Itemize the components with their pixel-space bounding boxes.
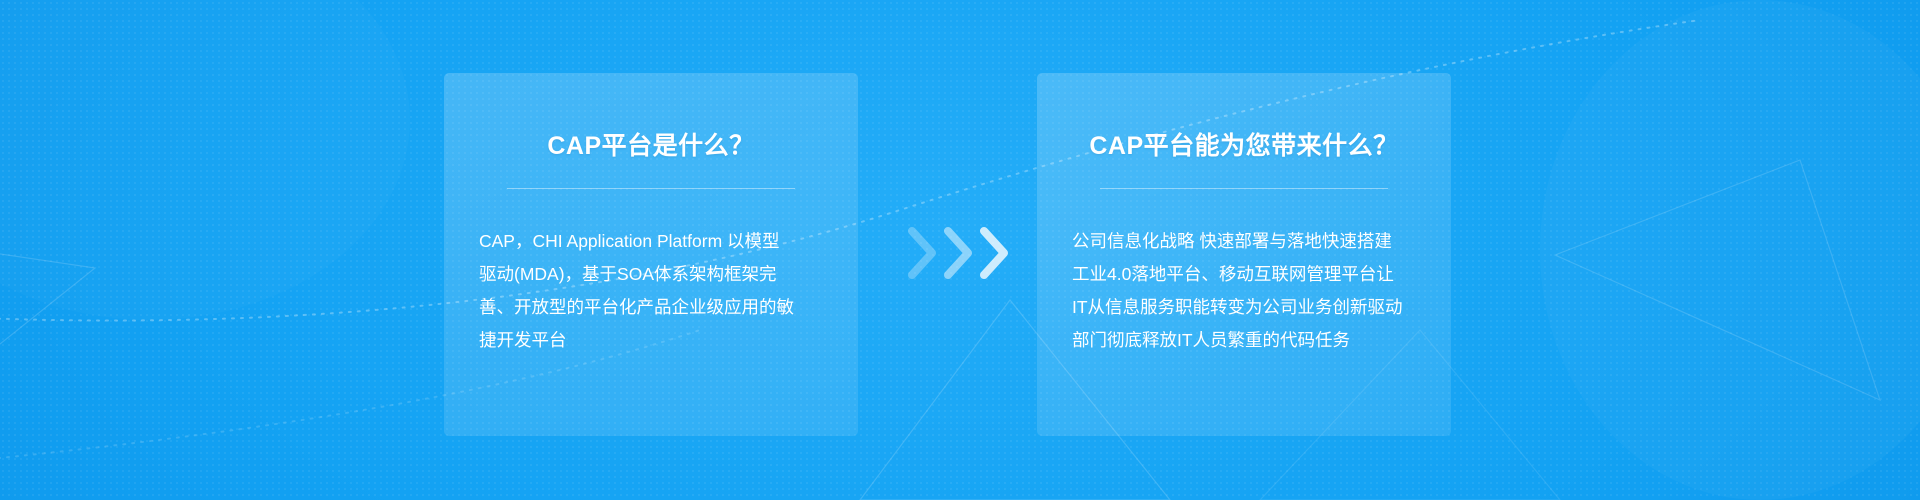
card-body-line: 部门彻底释放IT人员繁重的代码任务 <box>1072 324 1423 357</box>
chevron-right-icon <box>906 225 940 281</box>
chevron-right-icon <box>942 225 976 281</box>
card-what-cap-brings[interactable]: CAP平台能为您带来什么？ 公司信息化战略 快速部署与落地快速搭建 工业4.0落… <box>1037 73 1451 436</box>
hero-banner: CAP平台是什么？ CAP，CHI Application Platform 以… <box>0 0 1920 500</box>
card-body-line: 善、开放型的平台化产品企业级应用的敏 <box>479 291 830 324</box>
card-body: CAP，CHI Application Platform 以模型 驱动(MDA)… <box>470 225 832 357</box>
card-body-line: 公司信息化战略 快速部署与落地快速搭建 <box>1072 225 1423 258</box>
card-body: 公司信息化战略 快速部署与落地快速搭建 工业4.0落地平台、移动互联网管理平台让… <box>1063 225 1425 357</box>
card-body-line: CAP，CHI Application Platform 以模型 <box>479 225 830 258</box>
card-divider <box>507 188 795 189</box>
chevron-right-group <box>906 222 1026 284</box>
card-body-line: IT从信息服务职能转变为公司业务创新驱动 <box>1072 291 1423 324</box>
card-body-line: 驱动(MDA)，基于SOA体系架构框架完 <box>479 258 830 291</box>
card-title: CAP平台能为您带来什么？ <box>1089 126 1398 162</box>
card-divider <box>1100 188 1388 189</box>
card-body-line: 工业4.0落地平台、移动互联网管理平台让 <box>1072 258 1423 291</box>
card-group: CAP平台是什么？ CAP，CHI Application Platform 以… <box>0 0 1920 500</box>
chevron-right-icon <box>978 225 1012 281</box>
card-what-is-cap[interactable]: CAP平台是什么？ CAP，CHI Application Platform 以… <box>444 73 858 436</box>
card-body-line: 捷开发平台 <box>479 324 830 357</box>
card-title: CAP平台是什么？ <box>547 126 754 162</box>
